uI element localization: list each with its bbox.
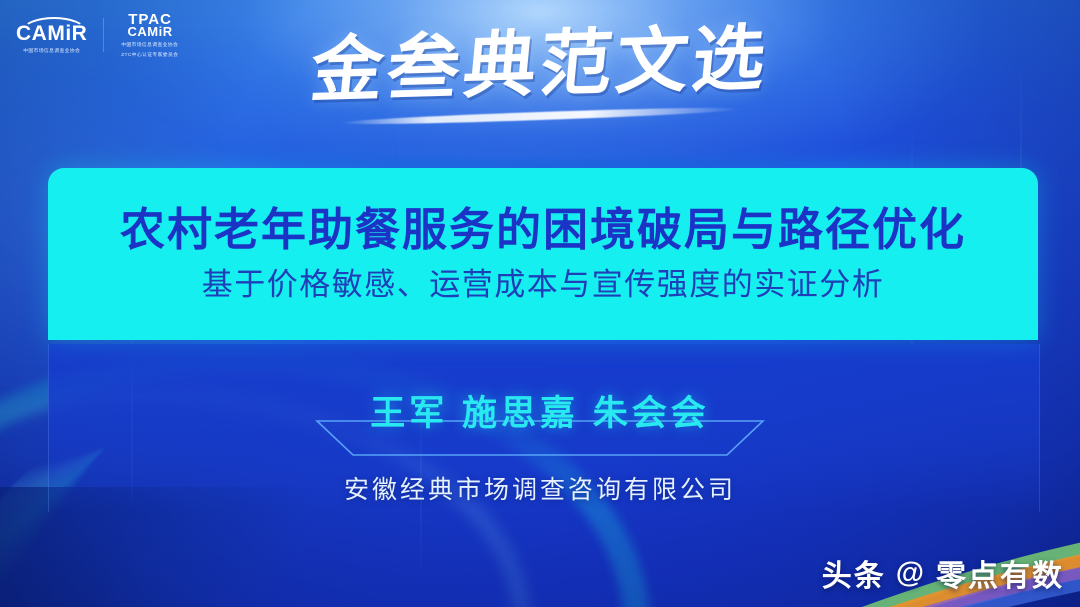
title-card: 农村老年助餐服务的困境破局与路径优化 基于价格敏感、运营成本与宣传强度的实证分析: [48, 168, 1038, 340]
tpac-logo-subtitle-line2: ZTC中心认证专家委员会: [122, 51, 179, 58]
series-headline-text: 金叁典范文选: [308, 20, 773, 108]
logo-divider: [103, 18, 104, 52]
watermark-account: 零点有数: [936, 551, 1064, 595]
organization-name: 安徽经典市场调查咨询有限公司: [0, 470, 1080, 506]
camir-logo: CAMiR 中国市场信息调查业协会: [16, 17, 87, 54]
arc-icon: [17, 17, 87, 26]
camir-logo-subtitle: 中国市场信息调查业协会: [23, 47, 80, 54]
tpac-logo-subtitle-line1: 中国市场信息调查业协会: [122, 41, 179, 48]
camir-wordmark: CAMiR: [16, 23, 87, 44]
camir-wordmark-secondary: CAMiR: [128, 25, 173, 38]
tpac-camir-logo: TPAC CAMiR 中国市场信息调查业协会 ZTC中心认证专家委员会: [120, 12, 180, 58]
page-title: 农村老年助餐服务的困境破局与路径优化: [120, 205, 966, 255]
logo-bar: CAMiR 中国市场信息调查业协会 TPAC CAMiR 中国市场信息调查业协会…: [16, 12, 180, 58]
authors-row: 王军 施思嘉 朱会会: [0, 385, 1080, 436]
watermark-platform: 头条: [822, 551, 886, 595]
page-subtitle: 基于价格敏感、运营成本与宣传强度的实证分析: [202, 266, 885, 303]
watermark-at-symbol: @: [894, 557, 928, 590]
author-names: 王军 施思嘉 朱会会: [370, 385, 709, 436]
watermark: 头条 @ 零点有数: [822, 551, 1064, 595]
presentation-slide: CAMiR 中国市场信息调查业协会 TPAC CAMiR 中国市场信息调查业协会…: [0, 0, 1080, 607]
